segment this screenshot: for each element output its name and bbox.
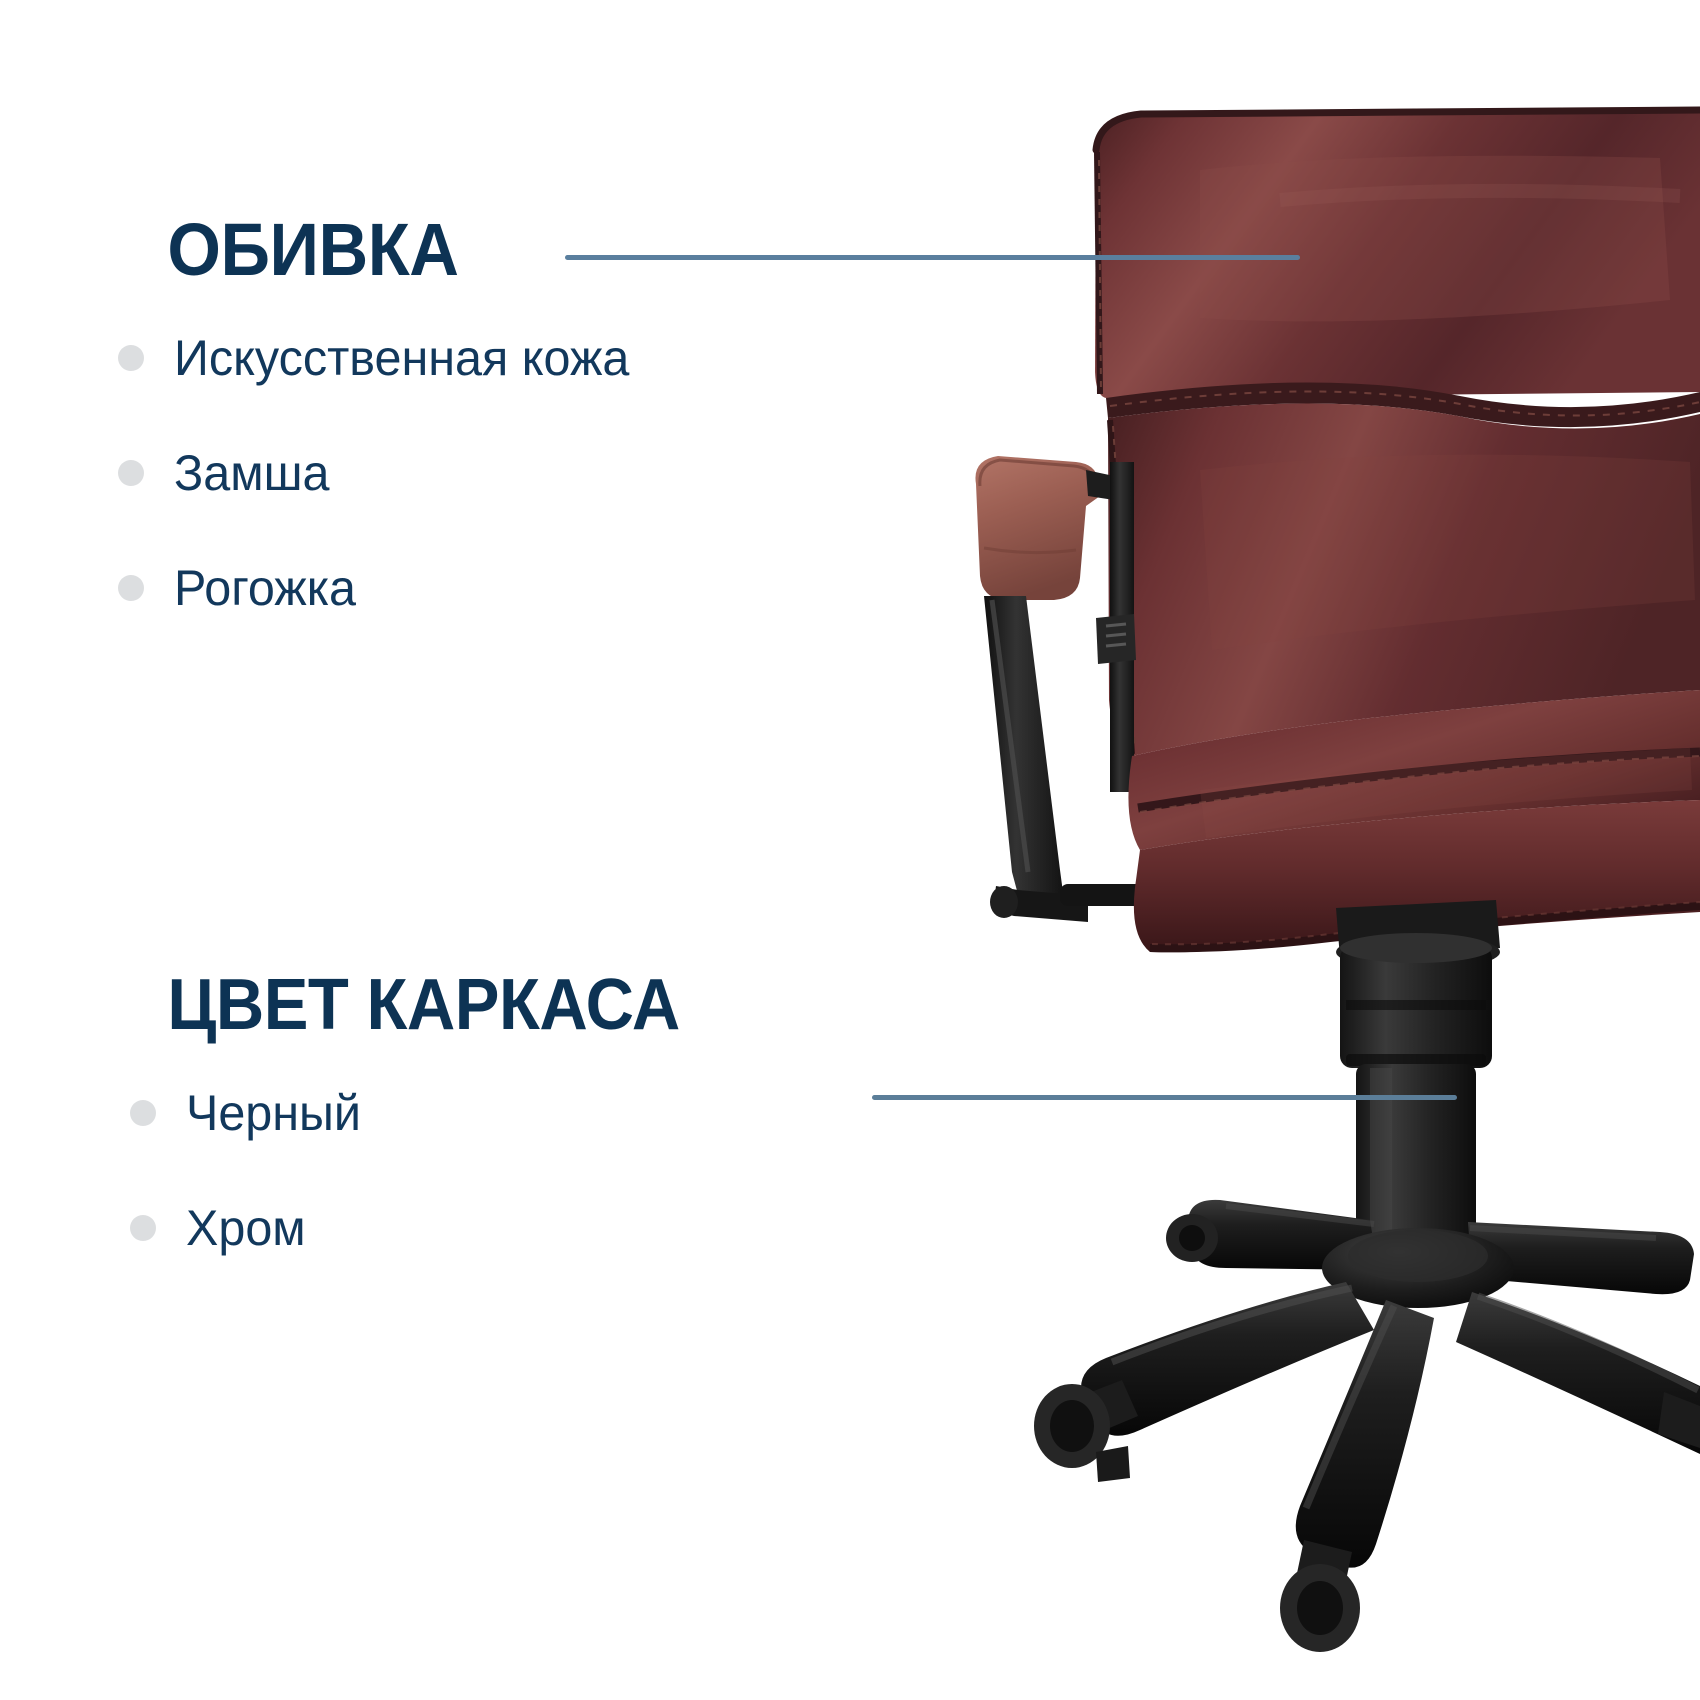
bullet-dot-icon (130, 1215, 156, 1241)
list-item[interactable]: Черный (0, 1055, 900, 1170)
product-spec-infographic: ОБИВКА Искусственная кожа Замша Рогожка … (0, 0, 1700, 1700)
bullet-dot-icon (118, 575, 144, 601)
bullet-dot-icon (118, 460, 144, 486)
list-item[interactable]: Искусственная кожа (0, 300, 900, 415)
leader-line-frame-color (872, 1095, 1457, 1100)
heading-row-upholstery: ОБИВКА (0, 200, 900, 300)
section-heading-upholstery: ОБИВКА (0, 200, 458, 300)
spec-block-upholstery: ОБИВКА Искусственная кожа Замша Рогожка (0, 200, 900, 645)
spec-block-frame-color: ЦВЕТ КАРКАСА Черный Хром (0, 955, 900, 1285)
list-item-label: Черный (186, 1088, 361, 1138)
spec-list-upholstery: Искусственная кожа Замша Рогожка (0, 300, 900, 645)
bullet-dot-icon (130, 1100, 156, 1126)
list-item[interactable]: Замша (0, 415, 900, 530)
list-item[interactable]: Рогожка (0, 530, 900, 645)
chair-backrest (1095, 108, 1700, 756)
list-item-label: Хром (186, 1203, 306, 1253)
list-item-label: Замша (174, 448, 330, 498)
list-item-label: Искусственная кожа (174, 333, 629, 383)
section-heading-frame-color: ЦВЕТ КАРКАСА (0, 955, 680, 1055)
bullet-dot-icon (118, 345, 144, 371)
list-item-label: Рогожка (174, 563, 356, 613)
list-item[interactable]: Хром (0, 1170, 900, 1285)
spec-list-frame-color: Черный Хром (0, 1055, 900, 1285)
heading-row-frame-color: ЦВЕТ КАРКАСА (0, 955, 900, 1055)
